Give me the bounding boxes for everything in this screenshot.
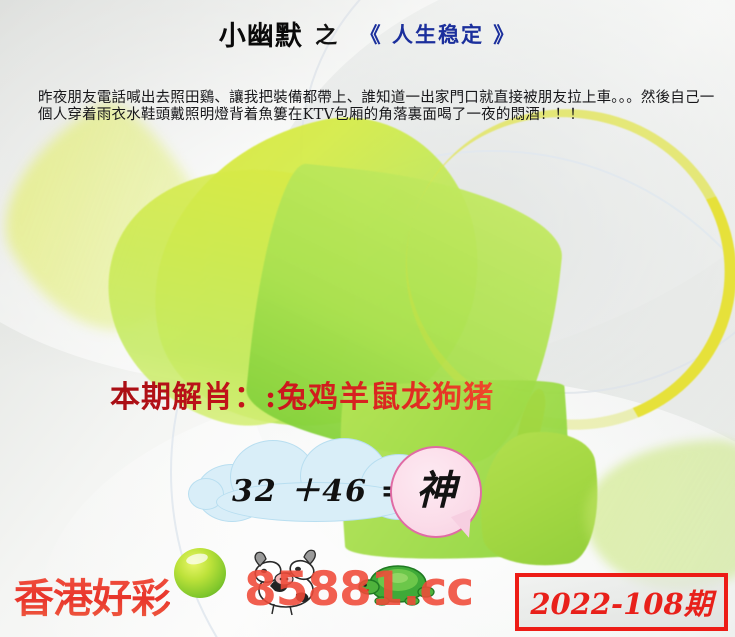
issue-badge: 2022-108期 <box>515 573 728 631</box>
watermark-url: 85881.cc <box>244 562 473 617</box>
formula-result-char: 神 <box>416 471 456 511</box>
joke-body-text: 昨夜朋友電話喊出去照田鷄、讓我把裝備都帶上、誰知道一出家門口就直接被朋友拉上車。… <box>38 90 720 123</box>
poster-header: 小幽默 之 《 人生稳定 》 <box>0 14 735 53</box>
formula-expression: 32 ＋46 = <box>232 466 408 510</box>
poster-canvas: 小幽默 之 《 人生稳定 》 昨夜朋友電話喊出去照田鷄、讓我把裝備都帶上、誰知道… <box>0 0 735 637</box>
zodiac-answer-line: 本期解肖：:兔鸡羊鼠龙狗猪 <box>110 372 494 416</box>
leaf-fade-right-icon <box>585 440 735 590</box>
title-connector: 之 <box>315 18 337 50</box>
page-subtitle: 《 人生稳定 》 <box>360 19 517 49</box>
watermark-brand: 香港好彩 <box>14 566 170 624</box>
page-title: 小幽默 <box>219 14 303 53</box>
issue-label: 2022-108期 <box>530 581 712 623</box>
